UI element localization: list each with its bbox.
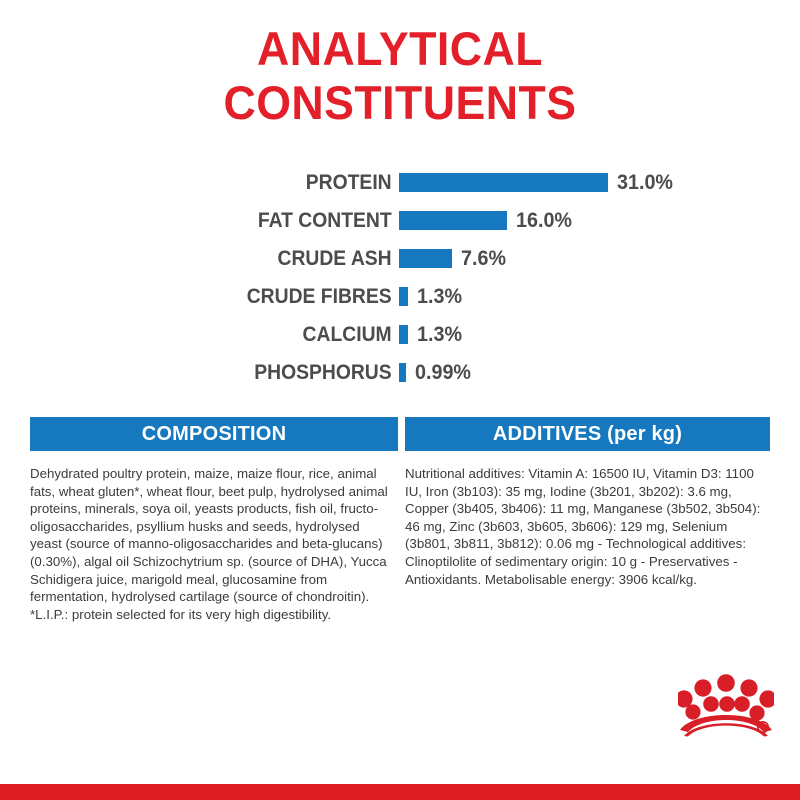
bar-value-phosphorus: 0.99% [415, 362, 471, 383]
bar-fill-crude-ash [399, 249, 452, 268]
footer-red-band [0, 784, 800, 800]
bar-fill-crude-fibres [399, 287, 408, 306]
bar-track-protein: 31.0% [399, 172, 800, 193]
bar-row-protein: PROTEIN 31.0% [0, 163, 800, 201]
bar-value-crude-fibres: 1.3% [417, 286, 462, 307]
ingredient-sections: COMPOSITION ADDITIVES (per kg) Dehydrate… [30, 417, 770, 623]
bar-value-fat-content: 16.0% [516, 210, 572, 231]
bar-label-crude-ash: CRUDE ASH [32, 248, 399, 269]
bar-row-fat-content: FAT CONTENT 16.0% [0, 201, 800, 239]
composition-heading: COMPOSITION [30, 417, 398, 451]
bar-track-fat-content: 16.0% [399, 210, 800, 231]
bar-label-crude-fibres: CRUDE FIBRES [32, 286, 399, 307]
bar-fill-fat-content [399, 211, 507, 230]
bar-row-crude-fibres: CRUDE FIBRES 1.3% [0, 277, 800, 315]
bar-track-crude-ash: 7.6% [399, 248, 800, 269]
bar-fill-phosphorus [399, 363, 406, 382]
svg-text:R: R [760, 725, 765, 732]
analytical-constituents-chart: PROTEIN 31.0% FAT CONTENT 16.0% CRUDE AS… [0, 163, 800, 391]
bar-row-calcium: CALCIUM 1.3% [0, 315, 800, 353]
bar-track-phosphorus: 0.99% [399, 362, 800, 383]
bar-value-calcium: 1.3% [417, 324, 462, 345]
royal-canin-crown-logo: R [678, 666, 774, 738]
nutrition-info-panel: ANALYTICAL CONSTITUENTS PROTEIN 31.0% FA… [0, 0, 800, 800]
crown-icon: R [678, 666, 774, 738]
bar-row-phosphorus: PHOSPHORUS 0.99% [0, 353, 800, 391]
bar-label-calcium: CALCIUM [32, 324, 399, 345]
page-title: ANALYTICAL CONSTITUENTS [20, 22, 780, 130]
section-headings-row: COMPOSITION ADDITIVES (per kg) [30, 417, 770, 451]
bar-value-crude-ash: 7.6% [461, 248, 506, 269]
bar-label-phosphorus: PHOSPHORUS [32, 362, 399, 383]
bar-row-crude-ash: CRUDE ASH 7.6% [0, 239, 800, 277]
bar-label-protein: PROTEIN [32, 172, 399, 193]
section-bodies-row: Dehydrated poultry protein, maize, maize… [30, 465, 770, 623]
bar-track-calcium: 1.3% [399, 324, 800, 345]
composition-text: Dehydrated poultry protein, maize, maize… [30, 465, 398, 623]
bar-label-fat-content: FAT CONTENT [32, 210, 399, 231]
page-title-line-2: CONSTITUENTS [20, 76, 780, 130]
bar-value-protein: 31.0% [617, 172, 673, 193]
bar-track-crude-fibres: 1.3% [399, 286, 800, 307]
page-title-line-1: ANALYTICAL [257, 22, 543, 75]
bar-fill-protein [399, 173, 608, 192]
additives-heading: ADDITIVES (per kg) [405, 417, 770, 451]
bar-fill-calcium [399, 325, 408, 344]
additives-text: Nutritional additives: Vitamin A: 16500 … [405, 465, 770, 623]
